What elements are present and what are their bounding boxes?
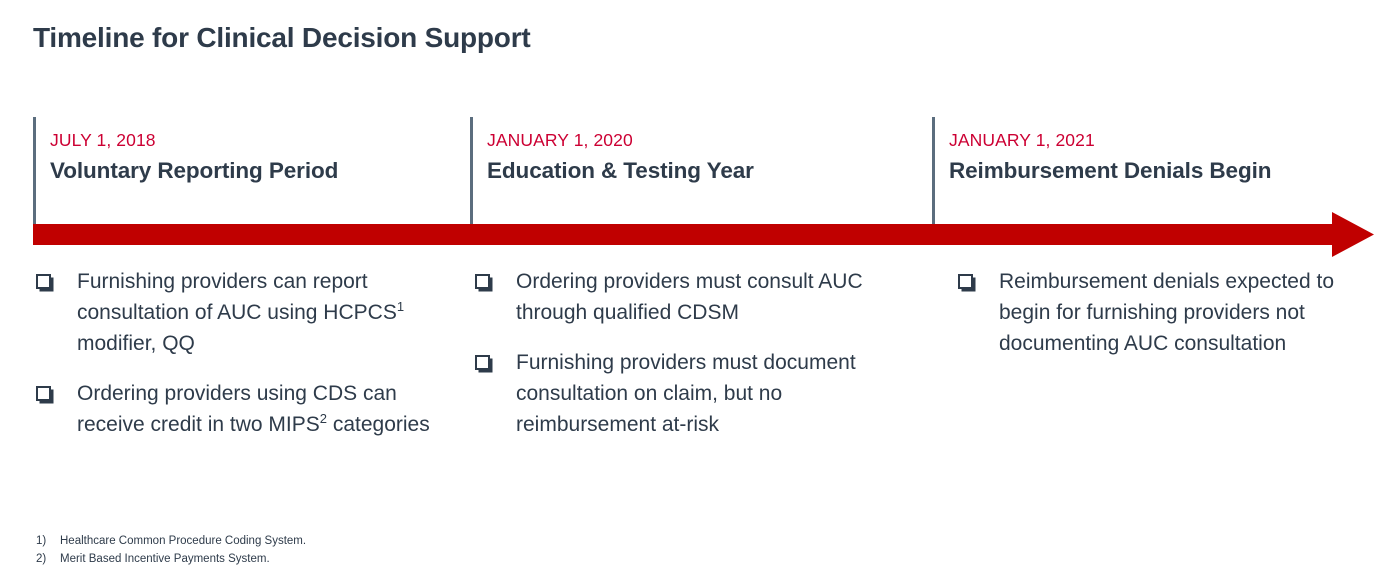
list-item-text: Reimbursement denials expected to begin … <box>999 266 1380 359</box>
footnote-number: 1) <box>36 532 60 550</box>
footnote-text: Merit Based Incentive Payments System. <box>60 550 270 568</box>
footnote-row: 2) Merit Based Incentive Payments System… <box>36 550 306 568</box>
page-title: Timeline for Clinical Decision Support <box>33 22 531 54</box>
list-item: Ordering providers using CDS can receive… <box>33 378 453 440</box>
list-item-text: Ordering providers must consult AUC thro… <box>516 266 902 328</box>
list-item-text: Furnishing providers must document consu… <box>516 347 902 440</box>
milestone-heading-2: Education & Testing Year <box>487 159 928 183</box>
milestone-heading-3: Reimbursement Denials Begin <box>949 159 1372 183</box>
milestone-header-2: JANUARY 1, 2020 Education & Testing Year <box>470 117 928 225</box>
footnote-text: Healthcare Common Procedure Coding Syste… <box>60 532 306 550</box>
milestone-date-2: JANUARY 1, 2020 <box>487 132 928 150</box>
footnote-number: 2) <box>36 550 60 568</box>
checkbox-square-icon <box>36 274 51 289</box>
milestone-date-3: JANUARY 1, 2021 <box>949 132 1372 150</box>
list-item: Furnishing providers can report consulta… <box>33 266 453 359</box>
milestone-header-1: JULY 1, 2018 Voluntary Reporting Period <box>33 117 465 225</box>
footnote-row: 1) Healthcare Common Procedure Coding Sy… <box>36 532 306 550</box>
milestone-bullets-2: Ordering providers must consult AUC thro… <box>472 266 902 440</box>
milestone-header-3: JANUARY 1, 2021 Reimbursement Denials Be… <box>932 117 1372 225</box>
checkbox-square-icon <box>475 274 490 289</box>
list-item: Furnishing providers must document consu… <box>472 347 902 440</box>
footnotes: 1) Healthcare Common Procedure Coding Sy… <box>36 532 306 568</box>
milestone-heading-1: Voluntary Reporting Period <box>50 159 465 183</box>
checkbox-square-icon <box>475 355 490 370</box>
milestone-bullets-3: Reimbursement denials expected to begin … <box>955 266 1380 359</box>
checkbox-square-icon <box>958 274 973 289</box>
checkbox-square-icon <box>36 386 51 401</box>
milestone-date-1: JULY 1, 2018 <box>50 132 465 150</box>
list-item: Reimbursement denials expected to begin … <box>955 266 1380 359</box>
milestone-bullets-1: Furnishing providers can report consulta… <box>33 266 453 440</box>
timeline-slide: Timeline for Clinical Decision Support J… <box>0 0 1400 587</box>
list-item-text: Ordering providers using CDS can receive… <box>77 378 453 440</box>
list-item: Ordering providers must consult AUC thro… <box>472 266 902 328</box>
list-item-text: Furnishing providers can report consulta… <box>77 266 453 359</box>
